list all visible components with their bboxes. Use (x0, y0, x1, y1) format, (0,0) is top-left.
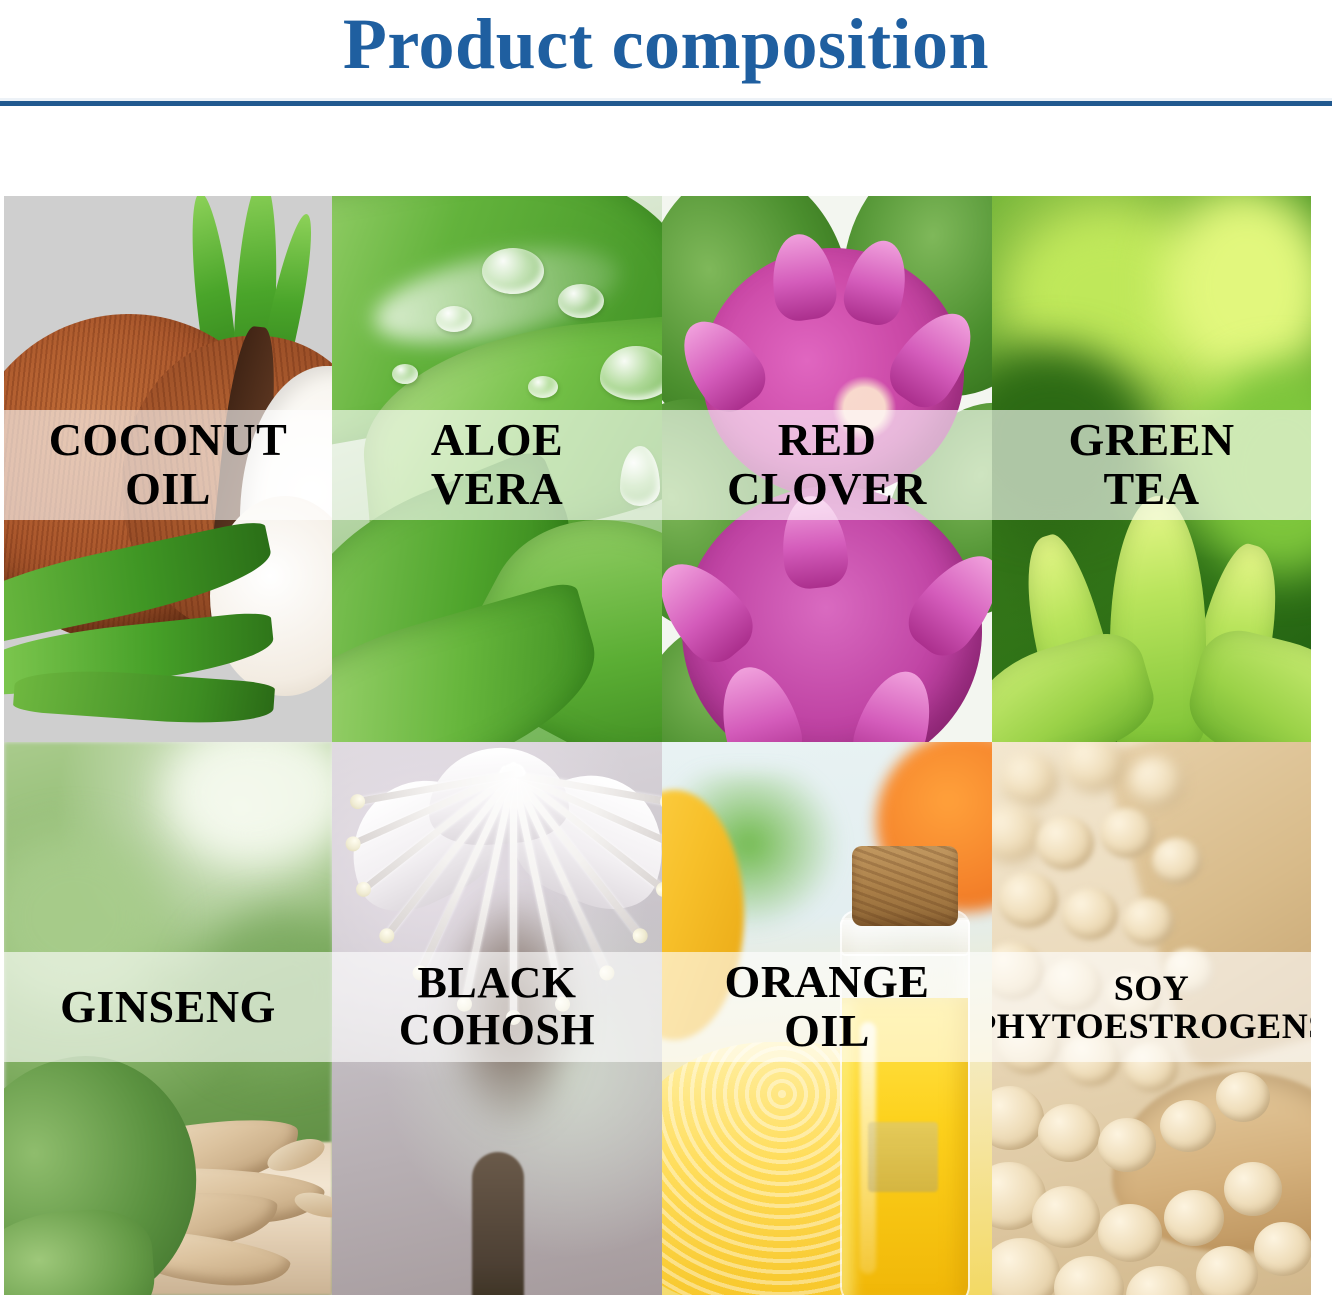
ingredient-cell-soy-phytoestrogens[interactable]: SOY PHYTOESTROGENS (992, 742, 1311, 1295)
ingredient-label: GINSENG (60, 983, 276, 1032)
ingredient-label-band: RED CLOVER (662, 410, 992, 520)
ingredient-label-band: BLACK COHOSH (332, 952, 662, 1062)
ingredient-label-band: SOY PHYTOESTROGENS (992, 952, 1311, 1062)
header-divider (0, 101, 1332, 106)
ingredient-label-band: ALOE VERA (332, 410, 662, 520)
ingredient-cell-green-tea[interactable]: GREEN TEA (992, 196, 1311, 742)
ingredient-label: ORANGE OIL (725, 958, 930, 1056)
ingredient-grid: COCONUT OIL ALOE VERA (4, 196, 1311, 1295)
ingredient-cell-orange-oil[interactable]: ORANGE OIL (662, 742, 992, 1295)
ingredient-cell-ginseng[interactable]: GINSENG (4, 742, 332, 1295)
ingredient-label-band: ORANGE OIL (662, 952, 992, 1062)
ingredient-cell-black-cohosh[interactable]: BLACK COHOSH (332, 742, 662, 1295)
ingredient-cell-red-clover[interactable]: RED CLOVER (662, 196, 992, 742)
ingredient-label: BLACK COHOSH (399, 960, 595, 1053)
ingredient-label: ALOE VERA (431, 416, 563, 514)
page-title: Product composition (0, 2, 1332, 86)
page-header: Product composition (0, 0, 1332, 106)
ingredient-label-band: GREEN TEA (992, 410, 1311, 520)
ingredient-cell-coconut-oil[interactable]: COCONUT OIL (4, 196, 332, 742)
ingredient-label: SOY PHYTOESTROGENS (992, 969, 1311, 1045)
ingredient-cell-aloe-vera[interactable]: ALOE VERA (332, 196, 662, 742)
ingredient-label-band: COCONUT OIL (4, 410, 332, 520)
ingredient-label-band: GINSENG (4, 952, 332, 1062)
ingredient-label: GREEN TEA (1068, 416, 1234, 514)
ingredient-label: RED CLOVER (727, 416, 927, 514)
ingredient-label: COCONUT OIL (49, 416, 288, 514)
